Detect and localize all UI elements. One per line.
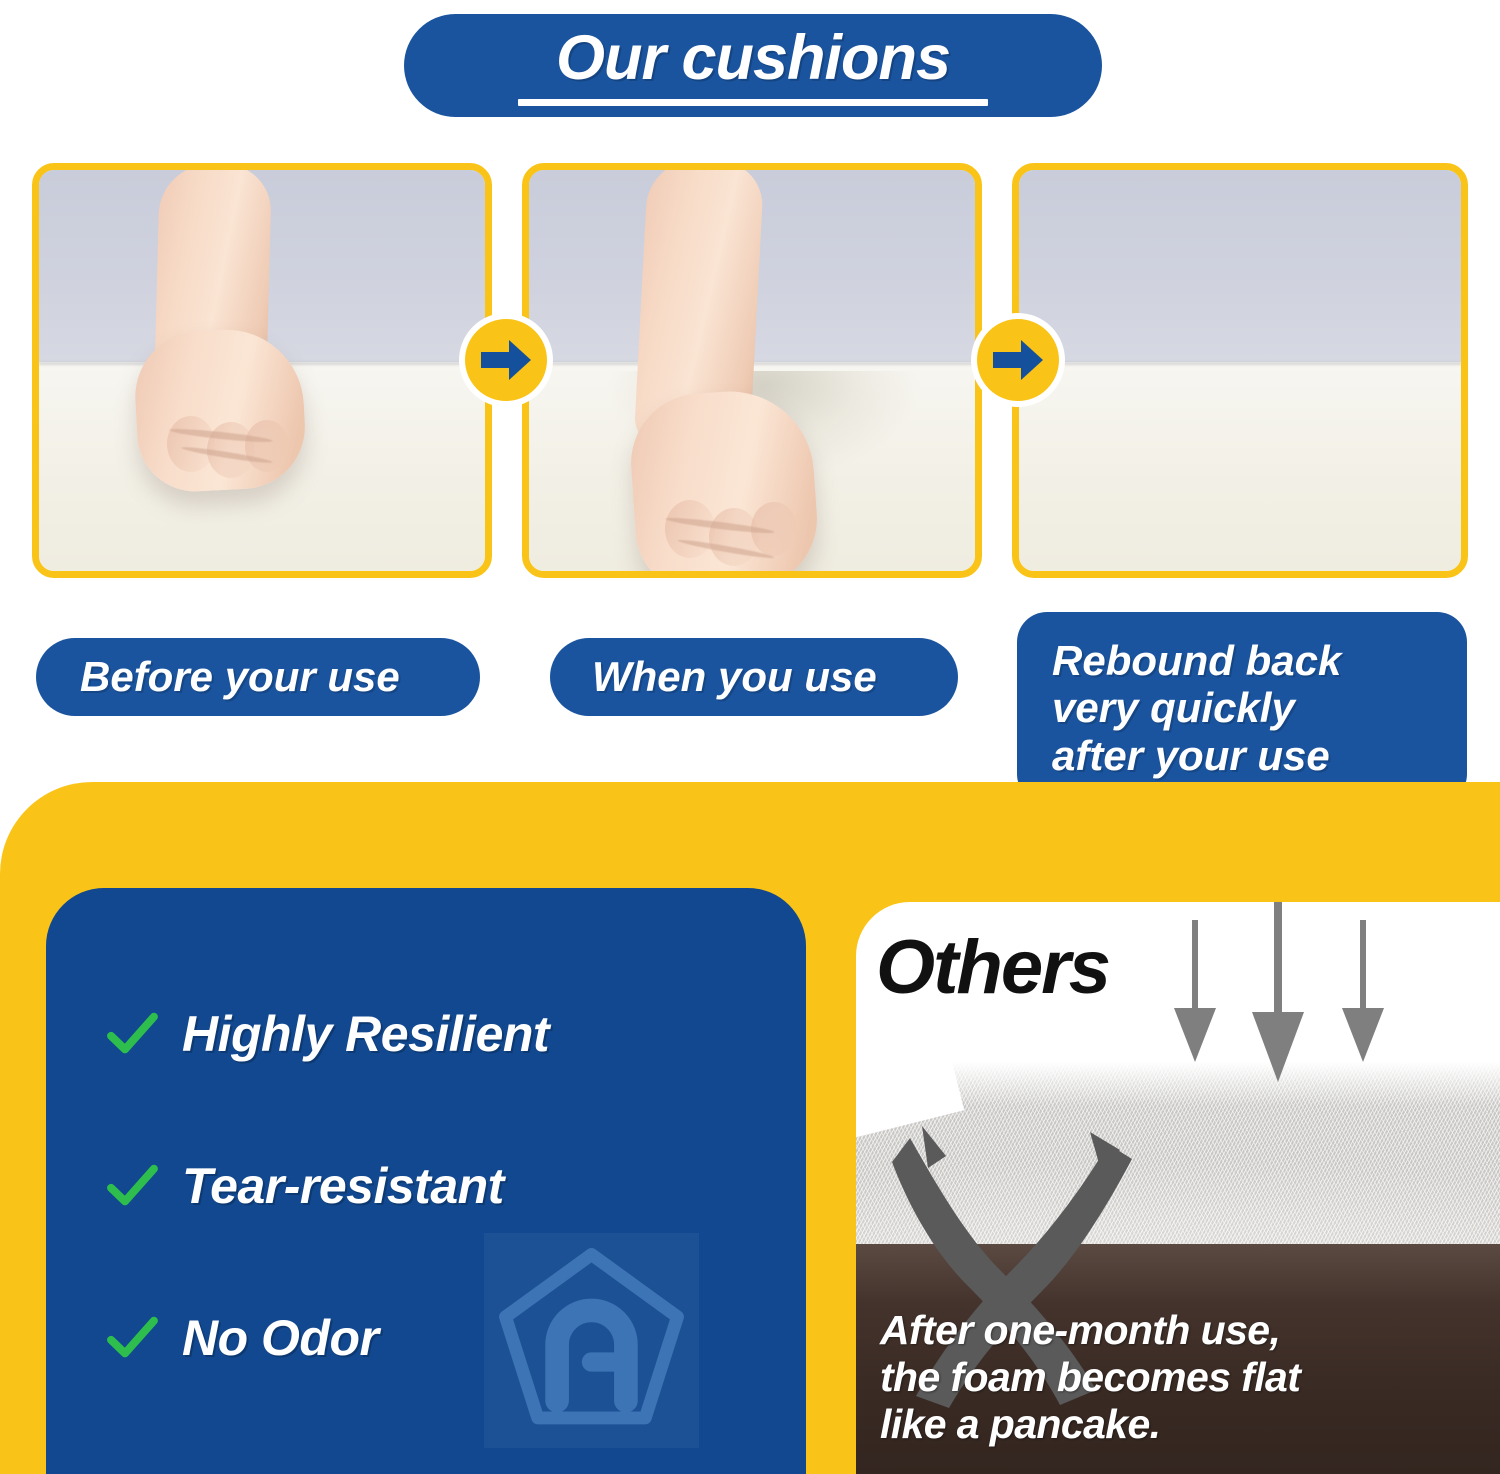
feature-list: Highly Resilient Tear-resistant No Odor [104,972,764,1428]
knuckle-shape [665,500,715,558]
title-underline [518,99,988,106]
arrow-down-icon [1174,920,1216,1062]
photo-rebound [1019,170,1461,571]
feature-item-highly-resilient: Highly Resilient [104,972,764,1096]
step-photo-panel-before [32,163,492,578]
others-comparison-card: Others After one-mon [856,902,1500,1474]
step-label-before: Before your use [36,638,480,716]
page-title: Our cushions [556,27,950,90]
step-arrow-badge [459,313,553,407]
check-icon [104,1310,160,1366]
photo-before-use [39,170,485,571]
others-caption: After one-month use, the foam becomes fl… [880,1307,1300,1448]
feature-label: No Odor [182,1309,378,1367]
infographic-page: Our cushions [0,0,1500,1474]
photo-foam-surface [1019,362,1461,571]
step-photo-panel-rebound [1012,163,1468,578]
others-caption-line-3: like a pancake. [880,1401,1300,1448]
our-cushions-feature-card: Highly Resilient Tear-resistant No Odor [46,888,806,1474]
step-label-rebound-line-3: after your use [1052,732,1467,779]
others-caption-line-2: the foam becomes flat [880,1354,1300,1401]
step-label-rebound-line-2: very quickly [1052,684,1467,731]
arrow-right-icon [992,338,1044,382]
others-title: Others [876,924,1109,1011]
pressure-arrows-group [1156,902,1426,1090]
feature-label: Highly Resilient [182,1005,549,1063]
photo-foam-edge [1019,362,1461,365]
arrow-down-icon [1252,902,1304,1082]
step-label-when-using: When you use [550,638,958,716]
check-icon [104,1006,160,1062]
page-title-banner: Our cushions [404,14,1102,117]
step-arrow-badge [971,313,1065,407]
check-icon [104,1158,160,1214]
step-label-rebound-line-1: Rebound back [1052,637,1467,684]
step-photo-panel-when-using [522,163,982,578]
arrow-down-icon [1342,920,1384,1062]
photo-background-wall [1019,170,1461,362]
others-caption-line-1: After one-month use, [880,1307,1300,1354]
feature-label: Tear-resistant [182,1157,504,1215]
step-label-rebound: Rebound back very quickly after your use [1017,612,1467,804]
feature-item-tear-resistant: Tear-resistant [104,1124,764,1248]
arrow-right-icon [480,338,532,382]
knuckle-shape [245,420,289,472]
feature-item-no-odor: No Odor [104,1276,764,1400]
photo-when-you-use [529,170,975,571]
